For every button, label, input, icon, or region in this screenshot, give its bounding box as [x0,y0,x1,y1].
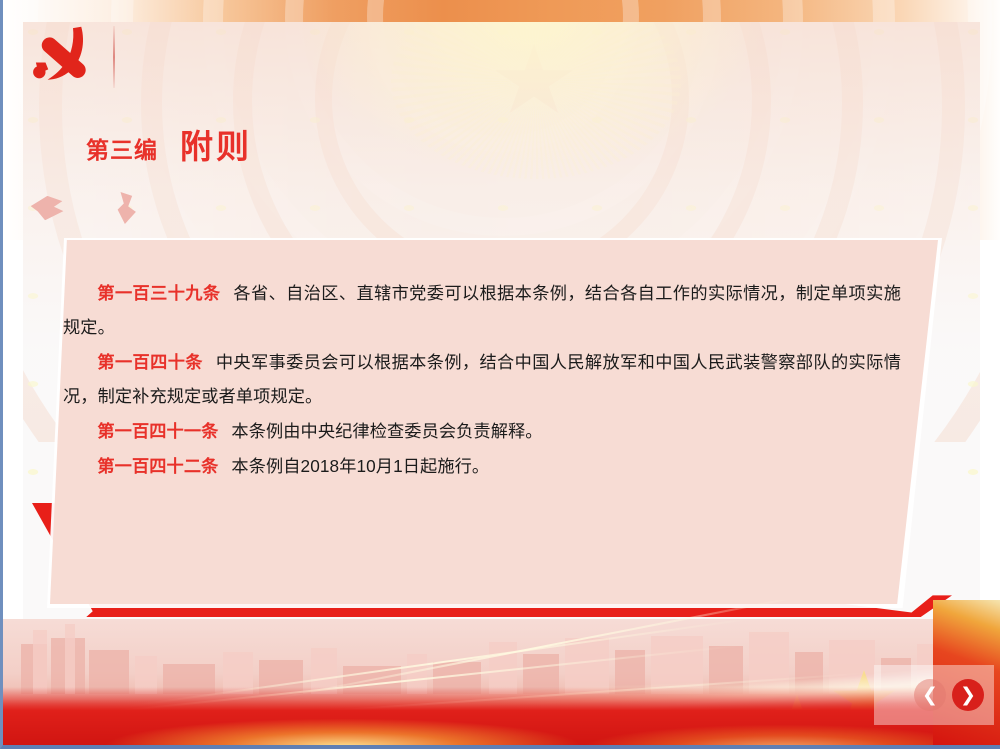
article-paragraph: 第一百四十一条本条例由中央纪律检查委员会负责解释。 [63,414,901,448]
article-paragraph: 第一百三十九条各省、自治区、直辖市党委可以根据本条例，结合各自工作的实际情况，制… [63,276,901,344]
article-number: 第一百四十条 [97,352,202,372]
article-paragraph: 第一百四十二条本条例自2018年10月1日起施行。 [63,449,901,483]
chevron-left-icon[interactable]: ❮ [914,679,946,711]
footer-glow-band [3,687,1000,749]
header-divider [113,26,115,88]
page-title: 第三编 附则 [86,120,252,168]
article-number: 第一百三十九条 [97,283,220,303]
article-text: 本条例由中央纪律检查委员会负责解释。 [231,421,542,441]
article-text: 本条例自2018年10月1日起施行。 [231,456,489,476]
title-section-label: 第三编 [86,131,158,165]
presentation-slide: 第三编 附则 第一百三十九条各省、自治区、直辖市党委可以根据本条例，结合各自工作… [0,0,1000,749]
article-number: 第一百四十一条 [97,421,218,441]
article-list: 第一百三十九条各省、自治区、直辖市党委可以根据本条例，结合各自工作的实际情况，制… [63,276,901,484]
slide-footer-decoration [3,600,1000,749]
title-main-label: 附则 [180,120,252,168]
chevron-right-icon[interactable]: ❯ [952,679,984,711]
cpc-emblem-icon [26,24,98,90]
slide-navigation: ❮ ❯ [914,679,984,711]
article-paragraph: 第一百四十条中央军事委员会可以根据本条例，结合中国人民解放军和中国人民武装警察部… [63,345,901,413]
article-number: 第一百四十二条 [97,456,218,476]
